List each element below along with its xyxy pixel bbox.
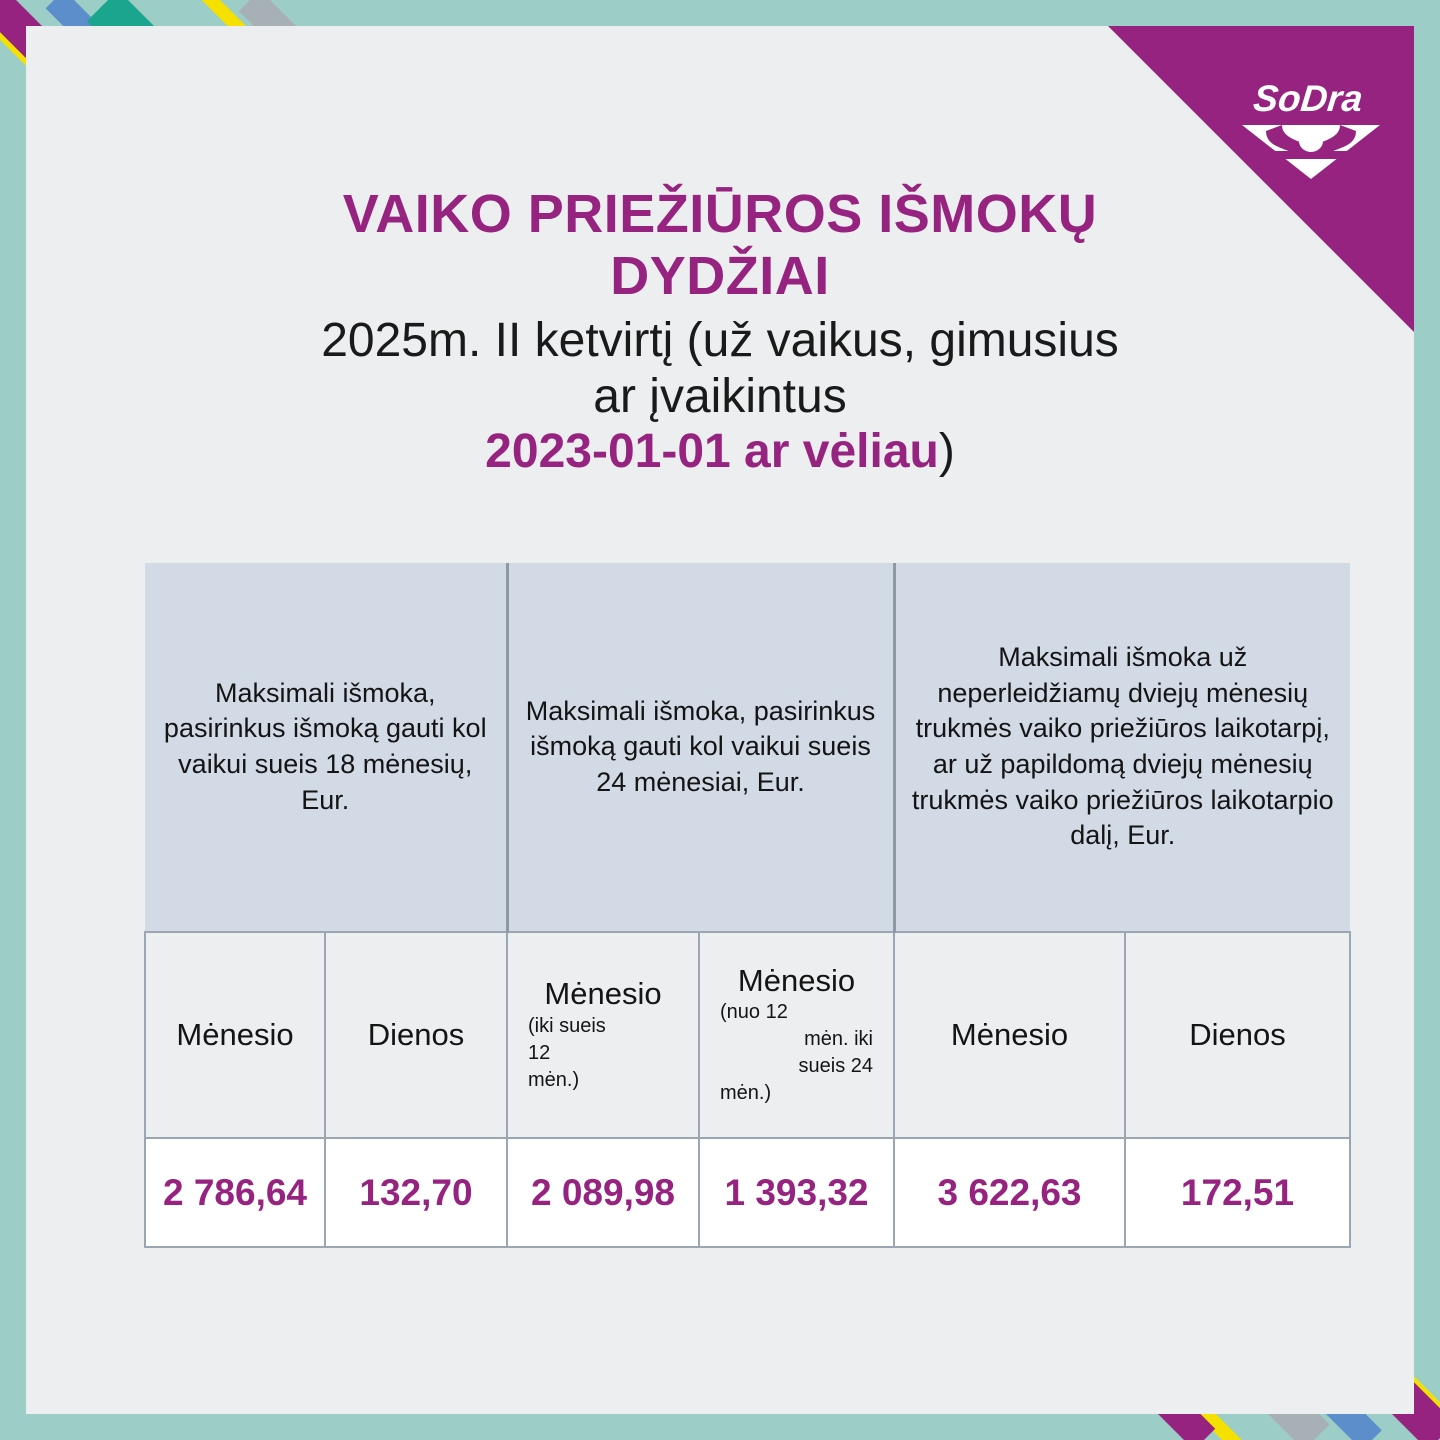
sub-header-6: Dienos <box>1125 932 1350 1138</box>
subtitle-highlight: 2023-01-01 ar vėliau <box>485 425 939 478</box>
sub-header-4-label: Mėnesio <box>706 964 887 998</box>
page-title-line2: DYDŽIAI <box>270 246 1170 308</box>
group-header-1: Maksimali išmoka, pasirinkus išmoką gaut… <box>145 563 507 932</box>
content-card: SoDra VAIKO PRIEŽIŪROS IŠMOKŲ DYDŽIAI <box>26 26 1414 1414</box>
group-header-3: Maksimali išmoka už neperleidžiamų dviej… <box>894 563 1350 932</box>
group-header-2: Maksimali išmoka, pasirinkus išmoką gaut… <box>507 563 894 932</box>
page-subtitle-line3: 2023-01-01 ar vėliau) <box>180 424 1260 480</box>
sub-header-3: Mėnesio (iki sueis 12 mėn.) <box>507 932 699 1138</box>
sub-header-2-label: Dienos <box>332 1018 500 1052</box>
table-values-row: 2 786,64 132,70 2 089,98 1 393,32 3 622,… <box>145 1138 1350 1247</box>
sub-header-5-label: Mėnesio <box>901 1018 1118 1052</box>
value-cell-6: 172,51 <box>1125 1138 1350 1247</box>
table-group-header-row: Maksimali išmoka, pasirinkus išmoką gaut… <box>145 563 1350 932</box>
page-title: VAIKO PRIEŽIŪROS IŠMOKŲ DYDŽIAI <box>270 184 1170 307</box>
sub-header-3-label: Mėnesio <box>514 977 692 1011</box>
sub-header-6-label: Dienos <box>1132 1018 1343 1052</box>
sub-header-5: Mėnesio <box>894 932 1125 1138</box>
rates-table: Maksimali išmoka, pasirinkus išmoką gaut… <box>144 563 1351 1248</box>
sub-header-1-label: Mėnesio <box>152 1018 318 1052</box>
sodra-logo: SoDra <box>1236 71 1386 181</box>
sub-header-3-note-line3: mėn.) <box>514 1068 692 1093</box>
value-cell-4: 1 393,32 <box>699 1138 894 1247</box>
svg-text:SoDra: SoDra <box>1251 77 1364 119</box>
title-block: VAIKO PRIEŽIŪROS IŠMOKŲ DYDŽIAI 2025m. I… <box>26 184 1414 480</box>
value-cell-1: 2 786,64 <box>145 1138 325 1247</box>
sub-header-4: Mėnesio (nuo 12 mėn. iki sueis 24 mėn.) <box>699 932 894 1138</box>
sub-header-4-note-line1: (nuo 12 <box>706 1000 887 1025</box>
sub-header-2: Dienos <box>325 932 507 1138</box>
rates-table-wrapper: Maksimali išmoka, pasirinkus išmoką gaut… <box>144 563 1349 1248</box>
table-sub-header-row: Mėnesio Dienos Mėnesio (iki sueis 12 mėn… <box>145 932 1350 1138</box>
sub-header-1: Mėnesio <box>145 932 325 1138</box>
page-title-line1: VAIKO PRIEŽIŪROS IŠMOKŲ <box>270 184 1170 246</box>
sub-header-4-note-line3: sueis 24 <box>706 1054 887 1079</box>
sub-header-4-note-line2: mėn. iki <box>706 1027 887 1052</box>
value-cell-2: 132,70 <box>325 1138 507 1247</box>
subtitle-closing-paren: ) <box>939 425 955 478</box>
value-cell-3: 2 089,98 <box>507 1138 699 1247</box>
page-subtitle-line1: 2025m. II ketvirtį (už vaikus, gimusius <box>180 313 1260 369</box>
page-subtitle: 2025m. II ketvirtį (už vaikus, gimusius … <box>180 313 1260 480</box>
sub-header-4-note-line4: mėn.) <box>706 1081 887 1106</box>
sub-header-3-note-line1: (iki sueis <box>514 1014 692 1039</box>
value-cell-5: 3 622,63 <box>894 1138 1125 1247</box>
page-subtitle-line2: ar įvaikintus <box>180 369 1260 425</box>
poster-canvas: SoDra VAIKO PRIEŽIŪROS IŠMOKŲ DYDŽIAI <box>0 0 1440 1440</box>
sub-header-3-note-line2: 12 <box>514 1041 692 1066</box>
